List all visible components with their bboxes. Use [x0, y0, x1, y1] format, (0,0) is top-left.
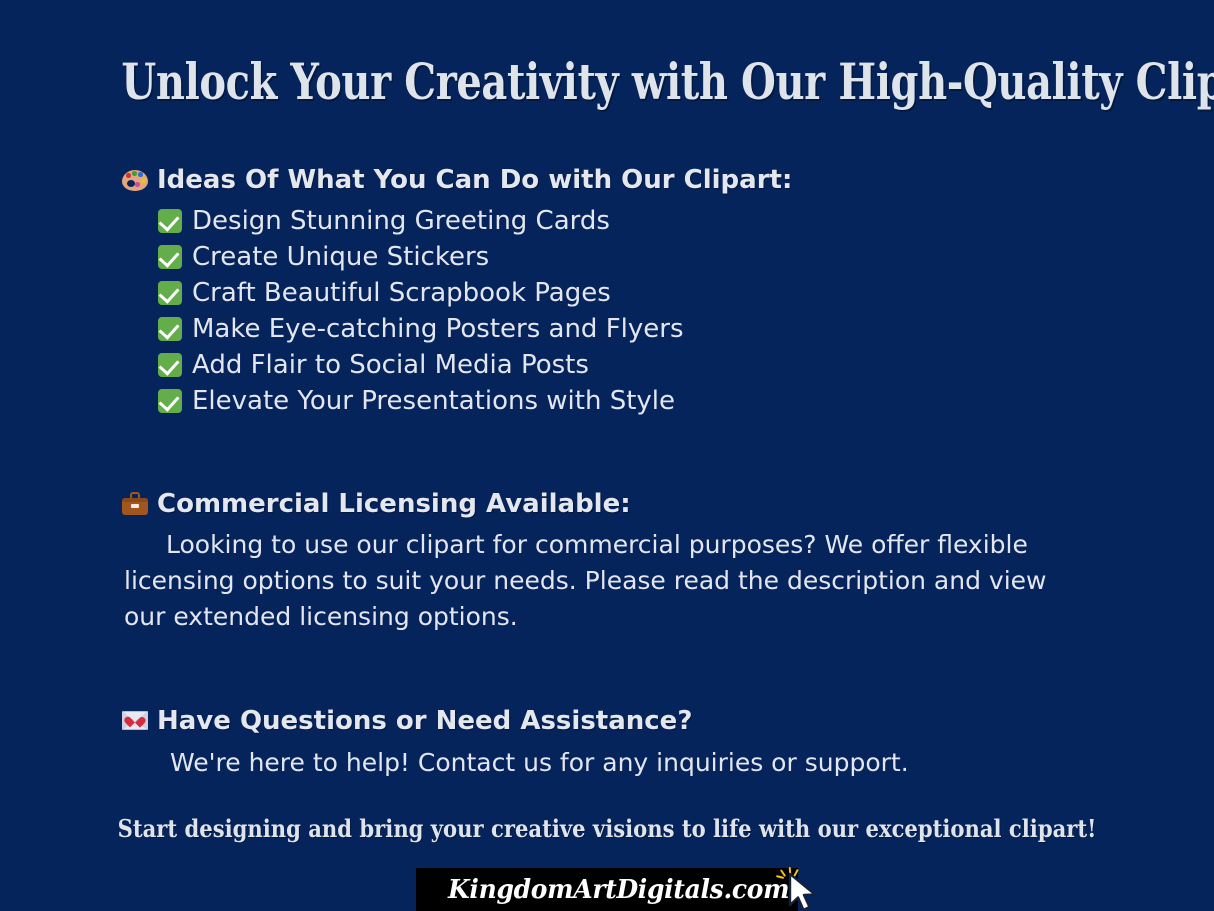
green-check-icon [158, 317, 182, 341]
section-heading-licensing-label: Commercial Licensing Available: [157, 489, 631, 519]
list-item-label: Add Flair to Social Media Posts [192, 350, 589, 380]
section-heading-ideas-label: Ideas Of What You Can Do with Our Clipar… [157, 165, 792, 195]
page-title: Unlock Your Creativity with Our High-Qua… [121, 52, 1092, 111]
green-check-icon [158, 353, 182, 377]
section-heading-help: Have Questions or Need Assistance? [122, 706, 692, 736]
list-item: Elevate Your Presentations with Style [158, 383, 684, 419]
list-item-label: Create Unique Stickers [192, 242, 489, 272]
list-item-label: Craft Beautiful Scrapbook Pages [192, 278, 611, 308]
artist-palette-icon [122, 167, 148, 193]
green-check-icon [158, 245, 182, 269]
briefcase-icon [122, 491, 148, 517]
cursor-arrow-icon [788, 872, 822, 911]
ideas-list: Design Stunning Greeting Cards Create Un… [158, 203, 684, 419]
clipart-info-slide: Unlock Your Creativity with Our High-Qua… [0, 0, 1214, 911]
love-letter-icon [122, 708, 148, 734]
mouse-pointer-click-icon [772, 866, 824, 911]
licensing-paragraph: Looking to use our clipart for commercia… [124, 527, 1064, 635]
list-item-label: Elevate Your Presentations with Style [192, 386, 675, 416]
list-item: Design Stunning Greeting Cards [158, 203, 684, 239]
list-item-label: Make Eye-catching Posters and Flyers [192, 314, 684, 344]
closing-tagline: Start designing and bring your creative … [73, 814, 1141, 843]
green-check-icon [158, 209, 182, 233]
list-item: Make Eye-catching Posters and Flyers [158, 311, 684, 347]
brand-logo-text: KingdomArtDigitals.com [448, 875, 789, 905]
list-item: Add Flair to Social Media Posts [158, 347, 684, 383]
list-item: Create Unique Stickers [158, 239, 684, 275]
green-check-icon [158, 281, 182, 305]
section-heading-help-label: Have Questions or Need Assistance? [157, 706, 692, 736]
brand-logo-banner[interactable]: KingdomArtDigitals.com [416, 868, 798, 911]
green-check-icon [158, 389, 182, 413]
section-heading-ideas: Ideas Of What You Can Do with Our Clipar… [122, 165, 792, 195]
help-paragraph: We're here to help! Contact us for any i… [124, 745, 1064, 781]
section-heading-licensing: Commercial Licensing Available: [122, 489, 631, 519]
list-item-label: Design Stunning Greeting Cards [192, 206, 610, 236]
list-item: Craft Beautiful Scrapbook Pages [158, 275, 684, 311]
